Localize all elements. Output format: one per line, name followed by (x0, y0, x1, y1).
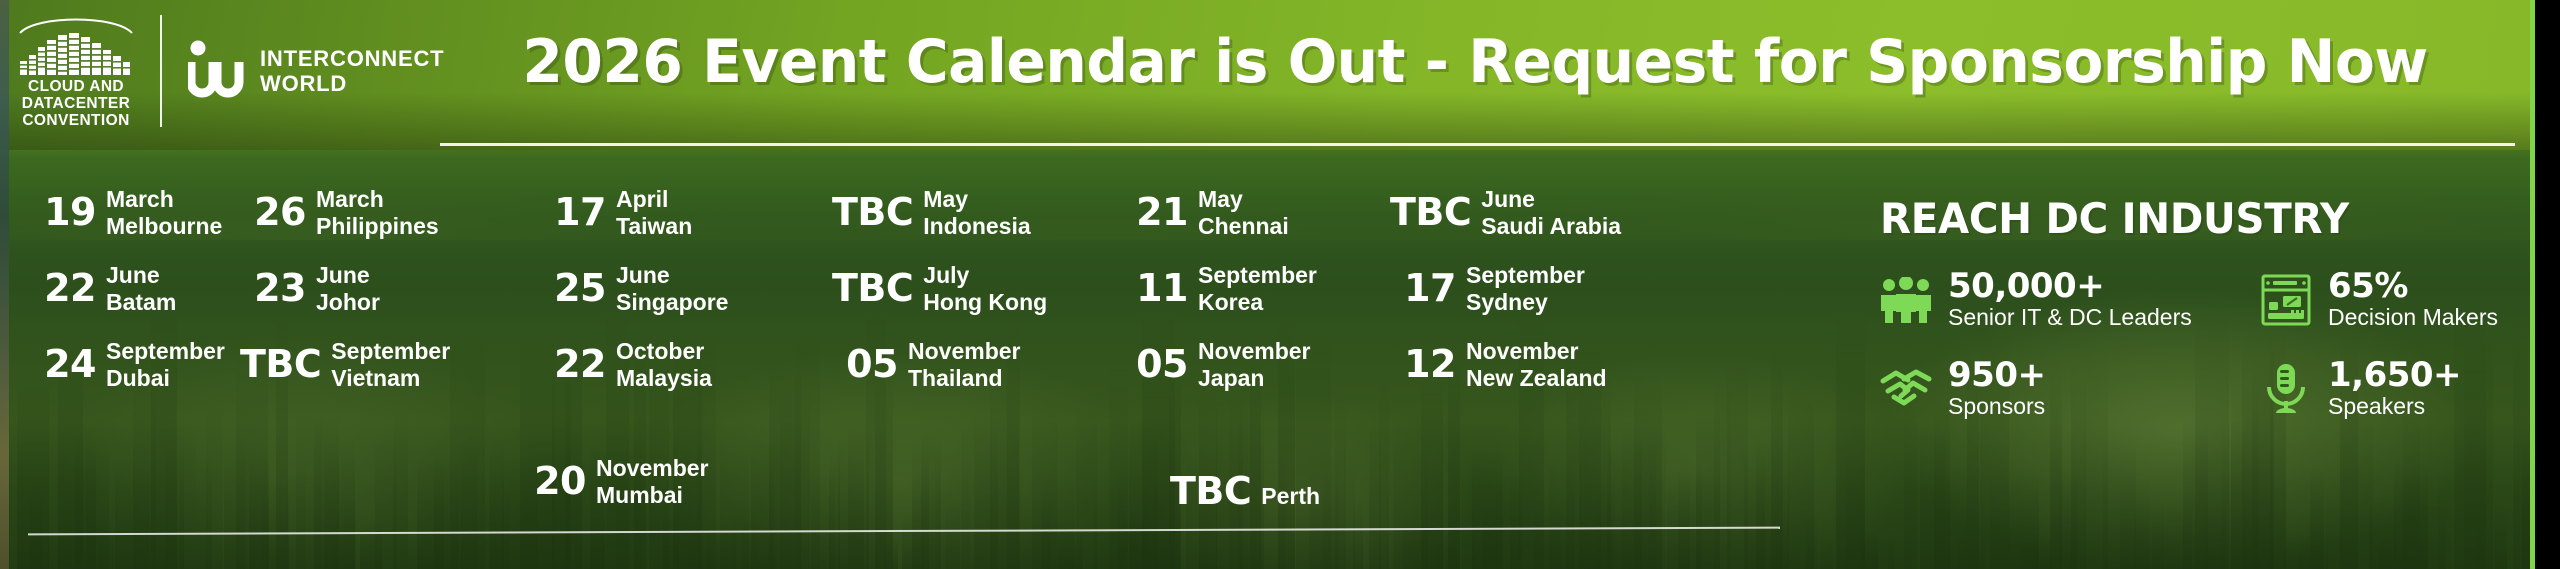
right-accent-border (2530, 0, 2535, 569)
event-day: 20 (520, 455, 586, 501)
event-city: Korea (1198, 289, 1317, 316)
stat-label: Decision Makers (2328, 304, 2498, 331)
cdc-logo-text: CLOUD AND DATACENTER CONVENTION (18, 78, 134, 129)
iw-logo-text: INTERCONNECT WORLD (260, 46, 444, 96)
handshake-icon (1880, 369, 1932, 409)
event-city: Johor (316, 289, 380, 316)
event-info: NovemberNew Zealand (1466, 338, 1607, 392)
event-day: 21 (1122, 186, 1188, 232)
event-item-philippines[interactable]: 26MarchPhilippines (240, 186, 540, 240)
event-day: 17 (540, 186, 606, 232)
event-item-batam[interactable]: 22JuneBatam (30, 262, 240, 316)
event-city: Japan (1198, 365, 1310, 392)
event-month: July (923, 262, 1047, 289)
stat-value: 65% (2328, 268, 2498, 304)
event-day: 11 (1122, 262, 1188, 308)
event-month: September (106, 338, 225, 365)
stat-value: 1,650+ (2328, 357, 2461, 393)
event-city: Dubai (106, 365, 225, 392)
event-city: Vietnam (331, 365, 450, 392)
event-item-saudi-arabia[interactable]: TBCJuneSaudi Arabia (1390, 186, 1690, 240)
event-info: OctoberMalaysia (616, 338, 712, 392)
event-city: Indonesia (923, 213, 1030, 240)
stats-title: REACH DC INDUSTRY (1880, 196, 2494, 242)
event-day: 22 (30, 262, 96, 308)
event-month: June (1481, 186, 1621, 213)
event-month: June (106, 262, 176, 289)
stat-text: 950+Sponsors (1948, 357, 2045, 420)
microphone-icon (2264, 363, 2308, 415)
event-info: MarchPhilippines (316, 186, 439, 240)
event-month: September (331, 338, 450, 365)
event-city: Saudi Arabia (1481, 213, 1621, 240)
event-item-malaysia[interactable]: 22OctoberMalaysia (540, 338, 832, 392)
event-info: JulyHong Kong (923, 262, 1047, 316)
event-item-singapore[interactable]: 25JuneSingapore (540, 262, 832, 316)
stat-sponsors: 950+Sponsors (1880, 357, 2260, 420)
event-city: Malaysia (616, 365, 712, 392)
event-city: Thailand (908, 365, 1020, 392)
server-rack-icon (2260, 274, 2312, 326)
iw-mark-icon (188, 40, 246, 102)
cdc-logo-line-2: DATACENTER (18, 95, 134, 112)
right-black-margin (2535, 0, 2560, 569)
event-info: November Mumbai (596, 455, 708, 509)
interconnect-world-logo[interactable]: INTERCONNECT WORLD (188, 40, 444, 102)
cdc-logo-line-3: CONVENTION (18, 112, 134, 129)
event-day: 17 (1390, 262, 1456, 308)
stat-label: Senior IT & DC Leaders (1948, 304, 2192, 331)
event-city: Mumbai (596, 482, 708, 509)
stat-senior-it-dc-leaders: 50,000+Senior IT & DC Leaders (1880, 268, 2260, 331)
event-info: SeptemberDubai (106, 338, 225, 392)
calendar-row: 19MarchMelbourne26MarchPhilippines17Apri… (30, 186, 1800, 240)
event-day: 26 (240, 186, 306, 232)
event-city: Melbourne (106, 213, 222, 240)
event-info: NovemberJapan (1198, 338, 1310, 392)
reach-stats-panel: REACH DC INDUSTRY 50,000+Senior IT & DC … (1880, 196, 2520, 420)
logo-divider (160, 15, 162, 127)
event-day: 12 (1390, 338, 1456, 384)
cdc-logo-line-1: CLOUD AND (18, 78, 134, 95)
event-month: March (106, 186, 222, 213)
event-city: Taiwan (616, 213, 692, 240)
title-underline (440, 143, 2515, 146)
event-info: AprilTaiwan (616, 186, 692, 240)
people-group-icon (1880, 274, 1932, 326)
event-city: Singapore (616, 289, 728, 316)
event-info: JuneJohor (316, 262, 380, 316)
datacenter-bars-icon (18, 31, 134, 75)
event-item-hong-kong[interactable]: TBCJulyHong Kong (832, 262, 1122, 316)
stat-label: Sponsors (1948, 393, 2045, 420)
event-info: SeptemberSydney (1466, 262, 1585, 316)
stats-grid: 50,000+Senior IT & DC Leaders65%Decision… (1880, 268, 2520, 420)
event-item-indonesia[interactable]: TBCMayIndonesia (832, 186, 1122, 240)
event-month: April (616, 186, 692, 213)
event-day: TBC (832, 186, 913, 232)
iw-logo-line-1: INTERCONNECT (260, 46, 444, 71)
event-item-vietnam[interactable]: TBCSeptemberVietnam (240, 338, 540, 392)
event-info: JuneBatam (106, 262, 176, 316)
event-month: November (1198, 338, 1310, 365)
calendar-row: 24SeptemberDubaiTBCSeptemberVietnam22Oct… (30, 338, 1800, 392)
event-day: 22 (540, 338, 606, 384)
microphone-icon (2260, 363, 2312, 415)
iw-logo-line-2: WORLD (260, 71, 444, 96)
event-calendar-banner: CLOUD AND DATACENTER CONVENTION INTERCON… (0, 0, 2560, 569)
event-item-chennai[interactable]: 21MayChennai (1122, 186, 1390, 240)
event-item-perth[interactable]: TBC Perth (1170, 471, 1320, 511)
banner-title: 2026 Event Calendar is Out - Request for… (471, 30, 2479, 94)
event-info: MayChennai (1198, 186, 1289, 240)
event-city: Batam (106, 289, 176, 316)
left-edge-strip (0, 0, 9, 569)
event-info: NovemberThailand (908, 338, 1020, 392)
logo-block: CLOUD AND DATACENTER CONVENTION INTERCON… (18, 12, 444, 129)
event-day: TBC (832, 262, 913, 308)
event-day: 25 (540, 262, 606, 308)
event-info: SeptemberKorea (1198, 262, 1317, 316)
event-info: MarchMelbourne (106, 186, 222, 240)
event-day: 24 (30, 338, 96, 384)
event-item-japan[interactable]: 05NovemberJapan (1122, 338, 1390, 392)
event-info: SeptemberVietnam (331, 338, 450, 392)
calendar-row: 22JuneBatam23JuneJohor25JuneSingaporeTBC… (30, 262, 1800, 316)
event-day: 05 (1122, 338, 1188, 384)
event-day: TBC (1170, 471, 1251, 511)
event-info: MayIndonesia (923, 186, 1030, 240)
event-city: Philippines (316, 213, 439, 240)
stat-value: 950+ (1948, 357, 2045, 393)
event-month: October (616, 338, 712, 365)
event-calendar-grid: 19MarchMelbourne26MarchPhilippines17Apri… (30, 186, 1800, 392)
server-rack-icon (2261, 274, 2311, 326)
stat-text: 65%Decision Makers (2328, 268, 2498, 331)
event-item-melbourne[interactable]: 19MarchMelbourne (30, 186, 240, 240)
event-day: TBC (1390, 186, 1471, 232)
event-item-sydney[interactable]: 17SeptemberSydney (1390, 262, 1690, 316)
stat-text: 50,000+Senior IT & DC Leaders (1948, 268, 2192, 331)
event-item-thailand[interactable]: 05NovemberThailand (832, 338, 1122, 392)
event-month: September (1198, 262, 1317, 289)
handshake-icon (1880, 363, 1932, 415)
event-month: June (616, 262, 728, 289)
event-month: November (596, 455, 708, 482)
event-info: JuneSaudi Arabia (1481, 186, 1621, 240)
event-month: March (316, 186, 439, 213)
event-month: May (923, 186, 1030, 213)
event-city: Sydney (1466, 289, 1585, 316)
event-month: May (1198, 186, 1289, 213)
stat-text: 1,650+Speakers (2328, 357, 2461, 420)
stat-speakers: 1,650+Speakers (2260, 357, 2520, 420)
people-group-icon (1880, 277, 1932, 323)
event-city: Chennai (1198, 213, 1289, 240)
event-item-korea[interactable]: 11SeptemberKorea (1122, 262, 1390, 316)
event-day: 05 (832, 338, 898, 384)
event-item-taiwan[interactable]: 17AprilTaiwan (540, 186, 832, 240)
event-month: November (908, 338, 1020, 365)
event-item-new-zealand[interactable]: 12NovemberNew Zealand (1390, 338, 1690, 392)
event-city: New Zealand (1466, 365, 1607, 392)
event-item-johor[interactable]: 23JuneJohor (240, 262, 540, 316)
stat-value: 50,000+ (1948, 268, 2192, 304)
event-item-dubai[interactable]: 24SeptemberDubai (30, 338, 240, 392)
event-city: Hong Kong (923, 289, 1047, 316)
event-info: JuneSingapore (616, 262, 728, 316)
event-month: June (316, 262, 380, 289)
cloud-datacenter-convention-logo[interactable]: CLOUD AND DATACENTER CONVENTION (18, 12, 134, 129)
event-city: Perth (1261, 483, 1320, 510)
event-day: TBC (240, 338, 321, 384)
stat-label: Speakers (2328, 393, 2461, 420)
event-month: September (1466, 262, 1585, 289)
stat-decision-makers: 65%Decision Makers (2260, 268, 2520, 331)
event-calendar-extra-row: 20 November Mumbai TBC Perth (30, 455, 1800, 519)
event-day: 19 (30, 186, 96, 232)
event-item-mumbai[interactable]: 20 November Mumbai (520, 455, 708, 509)
event-day: 23 (240, 262, 306, 308)
event-month: November (1466, 338, 1607, 365)
